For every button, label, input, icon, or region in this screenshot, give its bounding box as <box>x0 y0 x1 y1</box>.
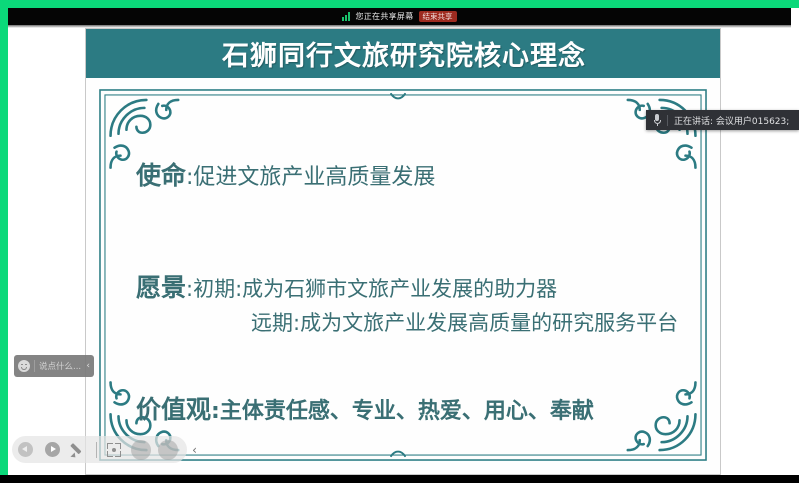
chat-divider <box>34 360 35 372</box>
values-text: :主体责任感、专业、热爱、用心、奉献 <box>211 399 594 424</box>
presentation-slide: 石狮同行文旅研究院核心理念 <box>85 28 721 475</box>
chat-input-placeholder[interactable]: 说点什么... <box>39 360 82 372</box>
chevron-left-icon[interactable]: ‹ <box>86 361 90 371</box>
more-options-button-2[interactable] <box>154 436 181 463</box>
mission-label: 使命 <box>136 161 186 190</box>
values-line: 价值观:主体责任感、专业、热爱、用心、奉献 <box>136 390 594 426</box>
topbar-shadow <box>8 25 791 28</box>
active-speaker-text: 正在讲话: 会议用户015623; <box>674 114 789 127</box>
more-options-button[interactable] <box>127 436 154 463</box>
chat-input-bar[interactable]: 说点什么... ‹ <box>14 355 94 377</box>
select-region-icon <box>107 443 121 457</box>
previous-slide-icon <box>18 442 33 457</box>
vision-line: 愿景:初期:成为石狮市文旅产业发展的助力器 <box>136 268 557 304</box>
slide-title-bar: 石狮同行文旅研究院核心理念 <box>86 29 721 78</box>
slide-title: 石狮同行文旅研究院核心理念 <box>222 34 586 73</box>
vision-line-2: 远期:成为文旅产业发展高质量的研究服务平台 <box>251 307 678 337</box>
mission-text: :促进文旅产业高质量发展 <box>186 165 435 190</box>
sharing-status-text: 您正在共享屏幕 <box>355 11 413 22</box>
more-options-icon-2 <box>158 440 178 460</box>
mission-line: 使命:促进文旅产业高质量发展 <box>136 156 435 192</box>
vision-text: :初期:成为石狮市文旅产业发展的助力器 <box>186 277 557 301</box>
microphone-icon <box>653 114 661 126</box>
values-label: 价值观 <box>136 395 211 424</box>
previous-slide-button[interactable] <box>12 436 39 463</box>
pen-annotate-icon <box>72 442 87 457</box>
vision-label: 愿景 <box>136 273 186 302</box>
slide-body: 使命:促进文旅产业高质量发展 愿景:初期:成为石狮市文旅产业发展的助力器 远期:… <box>86 78 721 475</box>
more-options-icon <box>131 440 151 460</box>
bottom-black-bar <box>0 475 799 483</box>
next-slide-icon <box>45 442 60 457</box>
collapse-toolbar-button[interactable]: ‹ <box>181 436 208 463</box>
toast-divider <box>667 115 668 126</box>
end-share-button[interactable]: 结束共享 <box>419 11 457 22</box>
toolbar-divider <box>96 442 97 458</box>
active-speaker-toast: 正在讲话: 会议用户015623; <box>646 110 799 130</box>
select-region-button[interactable] <box>100 436 127 463</box>
annotation-toolbar[interactable]: ‹ <box>12 436 187 463</box>
screen-share-topbar: 您正在共享屏幕 结束共享 <box>8 8 791 25</box>
meeting-screen-share-view: 石狮同行文旅研究院核心理念 <box>0 0 799 483</box>
chevron-left-icon: ‹ <box>192 443 197 457</box>
screen-share-border-left <box>0 0 8 475</box>
pen-annotate-button[interactable] <box>66 436 93 463</box>
signal-bars-icon <box>342 12 350 21</box>
next-slide-button[interactable] <box>39 436 66 463</box>
emoji-icon[interactable] <box>18 360 30 372</box>
screen-share-border-top <box>0 0 799 8</box>
